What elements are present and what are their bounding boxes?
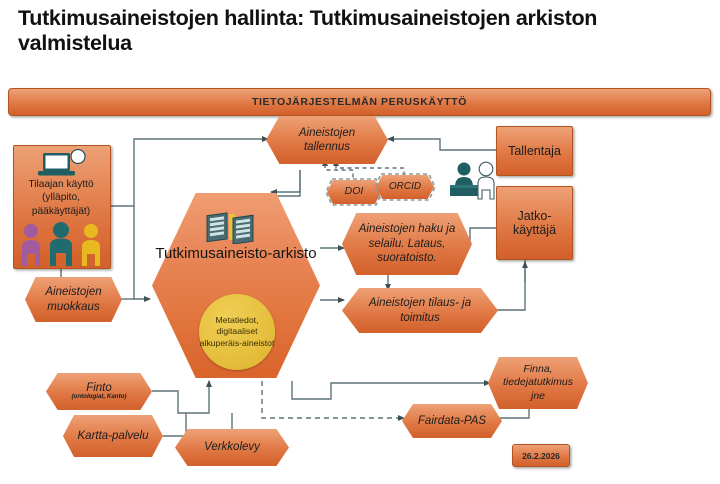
archive-content-circle-label: Metatiedot, digitaaliset alkuperäis-aine… (199, 315, 275, 348)
node-jatkokayttaja-label: Jatko-käyttäjä (497, 209, 572, 238)
node-finto-sublabel: (ontologiat, Kanto) (72, 394, 127, 401)
node-finto[interactable]: Finto (ontologiat, Kanto) (46, 373, 152, 410)
node-verkkolevy-label: Verkkolevy (194, 440, 270, 454)
node-fairdata-pas-label: Fairdata-PAS (408, 414, 496, 428)
node-aineistojen-haku-selailu-label: Aineistojen haku ja selailu. Lataus, suo… (342, 222, 472, 265)
diagram-canvas: TIETOJÄRJESTELMÄN PERUSKÄYTTÖ Tilaajan k… (0, 0, 720, 484)
node-doi-label: DOI (335, 185, 374, 198)
servers-icon (205, 208, 269, 244)
node-subscriber-usage-label: Tilaajan käyttö (ylläpito, pääkäyttäjät) (13, 178, 109, 218)
node-verkkolevy[interactable]: Verkkolevy (175, 429, 289, 466)
service-desk-people-icon (450, 161, 498, 201)
node-aineistojen-tilaus-toimitus-label: Aineistojen tilaus- ja toimitus (342, 296, 498, 325)
node-tutkimusaineistoarkisto-label: Tutkimusaineisto-arkisto (152, 245, 320, 263)
node-karttapalvelu-label: Kartta-palvelu (68, 429, 159, 443)
node-aineistojen-tallennus[interactable]: Aineistojen tallennus (266, 116, 388, 164)
node-aineistojen-muokkaus[interactable]: Aineistojen muokkaus (25, 277, 122, 322)
node-aineistojen-haku-selailu[interactable]: Aineistojen haku ja selailu. Lataus, suo… (342, 213, 472, 275)
three-people-icon (18, 222, 104, 266)
banner-label: TIETOJÄRJESTELMÄN PERUSKÄYTTÖ (252, 96, 467, 108)
node-aineistojen-tilaus-toimitus[interactable]: Aineistojen tilaus- ja toimitus (342, 288, 498, 333)
date-chip-label: 26.2.2026 (522, 451, 560, 461)
archive-content-circle: Metatiedot, digitaaliset alkuperäis-aine… (199, 294, 275, 370)
banner-tietojarjestelman-peruskaytto: TIETOJÄRJESTELMÄN PERUSKÄYTTÖ (8, 88, 711, 116)
node-finna[interactable]: Finna, tiedejatutkimus jne (488, 357, 588, 409)
laptop-icon (34, 149, 90, 179)
node-fairdata-pas[interactable]: Fairdata-PAS (402, 404, 502, 438)
node-aineistojen-tallennus-label: Aineistojen tallennus (266, 126, 388, 155)
node-finna-label: Finna, tiedejatutkimus jne (488, 363, 588, 402)
node-tallentaja[interactable]: Tallentaja (496, 126, 573, 176)
node-doi[interactable]: DOI (327, 180, 381, 204)
node-orcid-label: ORCID (379, 181, 431, 194)
node-jatkokayttaja[interactable]: Jatko-käyttäjä (496, 186, 573, 260)
node-tallentaja-label: Tallentaja (504, 144, 565, 158)
node-orcid[interactable]: ORCID (376, 175, 434, 199)
node-karttapalvelu[interactable]: Kartta-palvelu (63, 415, 163, 457)
date-chip: 26.2.2026 (512, 444, 570, 467)
node-aineistojen-muokkaus-label: Aineistojen muokkaus (25, 285, 122, 314)
